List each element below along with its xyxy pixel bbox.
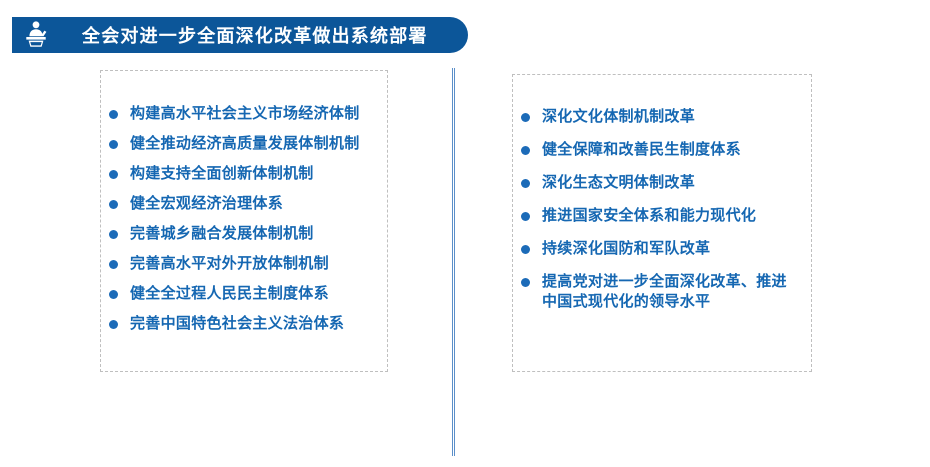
left-bullet-list: 构建高水平社会主义市场经济体制 健全推动经济高质量发展体制机制 构建支持全面创新… xyxy=(109,104,360,334)
list-item-label: 深化生态文明体制改革 xyxy=(542,173,695,193)
header-banner: 全会对进一步全面深化改革做出系统部署 xyxy=(12,17,468,53)
bullet-dot-icon xyxy=(521,278,530,287)
list-item-label: 构建支持全面创新体制机制 xyxy=(130,164,314,184)
list-item-label: 健全保障和改善民生制度体系 xyxy=(542,140,741,160)
list-item[interactable]: 构建高水平社会主义市场经济体制 xyxy=(109,104,360,124)
list-item-label: 推进国家安全体系和能力现代化 xyxy=(542,206,756,226)
list-item[interactable]: 健全推动经济高质量发展体制机制 xyxy=(109,134,360,154)
bullet-dot-icon xyxy=(109,260,118,269)
bullet-dot-icon xyxy=(109,110,118,119)
list-item[interactable]: 健全宏观经济治理体系 xyxy=(109,194,360,214)
list-item[interactable]: 完善中国特色社会主义法治体系 xyxy=(109,314,360,334)
bullet-dot-icon xyxy=(521,212,530,221)
list-item-label: 持续深化国防和军队改革 xyxy=(542,239,710,259)
list-item[interactable]: 深化生态文明体制改革 xyxy=(521,173,787,193)
list-item[interactable]: 健全全过程人民民主制度体系 xyxy=(109,284,360,304)
bullet-dot-icon xyxy=(109,140,118,149)
list-item[interactable]: 完善高水平对外开放体制机制 xyxy=(109,254,360,274)
column-divider xyxy=(452,68,455,456)
bullet-dot-icon xyxy=(109,290,118,299)
list-item[interactable]: 持续深化国防和军队改革 xyxy=(521,239,787,259)
list-item[interactable]: 构建支持全面创新体制机制 xyxy=(109,164,360,184)
left-content-panel: 构建高水平社会主义市场经济体制 健全推动经济高质量发展体制机制 构建支持全面创新… xyxy=(100,70,388,372)
bullet-dot-icon xyxy=(109,230,118,239)
bullet-dot-icon xyxy=(521,113,530,122)
list-item-label: 健全全过程人民民主制度体系 xyxy=(130,284,329,304)
list-item[interactable]: 完善城乡融合发展体制机制 xyxy=(109,224,360,244)
list-item-label: 完善城乡融合发展体制机制 xyxy=(130,224,314,244)
podium-speaker-icon xyxy=(12,17,60,53)
list-item-label: 构建高水平社会主义市场经济体制 xyxy=(130,104,360,124)
list-item[interactable]: 健全保障和改善民生制度体系 xyxy=(521,140,787,160)
list-item[interactable]: 深化文化体制机制改革 xyxy=(521,107,787,127)
list-item-label: 完善高水平对外开放体制机制 xyxy=(130,254,329,274)
bullet-dot-icon xyxy=(521,179,530,188)
page-title: 全会对进一步全面深化改革做出系统部署 xyxy=(82,22,428,48)
bullet-dot-icon xyxy=(521,245,530,254)
list-item[interactable]: 提高党对进一步全面深化改革、推进 中国式现代化的领导水平 xyxy=(521,272,787,312)
list-item-label: 完善中国特色社会主义法治体系 xyxy=(130,314,344,334)
right-content-panel: 深化文化体制机制改革 健全保障和改善民生制度体系 深化生态文明体制改革 推进国家… xyxy=(512,74,812,372)
list-item-label: 深化文化体制机制改革 xyxy=(542,107,695,127)
bullet-dot-icon xyxy=(109,320,118,329)
bullet-dot-icon xyxy=(521,146,530,155)
list-item-label: 提高党对进一步全面深化改革、推进 中国式现代化的领导水平 xyxy=(542,272,787,312)
list-item-label: 健全宏观经济治理体系 xyxy=(130,194,283,214)
bullet-dot-icon xyxy=(109,170,118,179)
right-bullet-list: 深化文化体制机制改革 健全保障和改善民生制度体系 深化生态文明体制改革 推进国家… xyxy=(521,107,787,312)
list-item[interactable]: 推进国家安全体系和能力现代化 xyxy=(521,206,787,226)
bullet-dot-icon xyxy=(109,200,118,209)
list-item-label: 健全推动经济高质量发展体制机制 xyxy=(130,134,360,154)
